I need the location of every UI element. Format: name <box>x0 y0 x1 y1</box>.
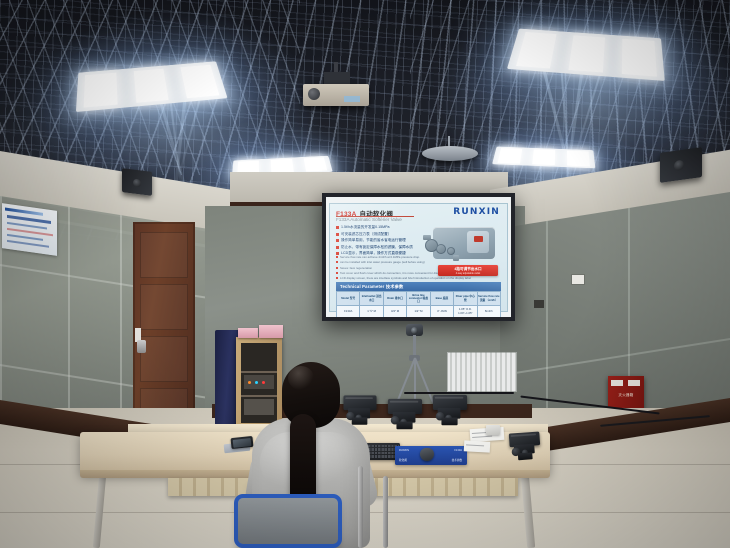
spec-col: Brine line connector 吸盐口 <box>407 292 430 306</box>
speaker-cone-icon <box>674 160 684 171</box>
slide-spec-table: Technical Parameter 技术参数 Model 型号 Inlet/… <box>336 282 501 317</box>
floor-cable <box>404 392 514 394</box>
chair-blue-trim <box>234 494 342 548</box>
spec-col: Service flow rate 流量 （m3/h） <box>477 292 500 306</box>
spec-cell: 1.05" O.D. 1.00"~1.05" <box>454 306 477 317</box>
presentation-slide: F133A自动软化阀 F133A Automatic Softener Valv… <box>329 203 508 312</box>
chair-support-post-1 <box>358 466 363 548</box>
ceiling-projector <box>303 84 369 106</box>
pink-box-2 <box>259 325 283 338</box>
product-illustration-softener-valve <box>423 223 501 265</box>
slide-callout-badge: 4路可调节出水口 4-way adjustable outlet <box>438 265 498 276</box>
radiator <box>447 352 517 392</box>
spec-cell: 1/2" M <box>407 306 430 317</box>
spec-cell: 3/4" M <box>383 306 406 317</box>
bullet-marker-icon <box>336 226 339 229</box>
bullet-text-en: LCD display screen, there are interface … <box>340 276 471 280</box>
smartphone[interactable] <box>230 436 253 449</box>
wall-outlet <box>572 275 584 284</box>
paper-document-2 <box>464 440 491 452</box>
spec-col: Model 型号 <box>337 292 360 306</box>
valve-unit-4[interactable] <box>507 431 543 462</box>
bullet-text-en: Test cover and flush cover which do conn… <box>340 271 452 275</box>
bullet-text-en: Saves: faux regeneration <box>340 266 372 270</box>
notice-poster <box>2 203 57 256</box>
door-handle[interactable] <box>137 340 146 353</box>
brand-logo-runxin: RUNXIN <box>453 207 500 217</box>
bullet-text: 防止水，带有锁定保障水松的滤膜，保障水质 <box>341 245 413 250</box>
ceiling-speaker-disc <box>422 146 478 161</box>
wall-speaker-right <box>660 147 702 183</box>
slide-bullets-cn: 1.5t/h水流量的开发量0.15MPa 可安装滤芯压力表（测试配置） 操作简单… <box>336 225 431 258</box>
bullet-marker-icon <box>336 233 339 236</box>
spec-table-row: F133A 1 ½" M 3/4" M 1/2" M 4" -8UN 1.05"… <box>337 306 501 317</box>
bullet-marker-icon <box>336 246 339 249</box>
spec-col: Riser pipe 中心管 <box>454 292 477 306</box>
speaker-cone-icon <box>133 179 141 188</box>
bullet-marker-icon <box>336 272 338 274</box>
small-widget[interactable] <box>486 425 500 435</box>
fire-cabinet-label-1: 灭火器箱 <box>608 393 644 398</box>
bullet-text: 操作简单易用，节能的省水省电运行管理 <box>341 238 406 243</box>
bullet-text-en: Service flow rate can achieve 4m3/h at 0… <box>340 255 420 259</box>
room-photo-scene: 灭火器箱 火警 119 F133A自动软化阀 F133A Automatic S… <box>0 0 730 548</box>
phone-screen <box>233 438 252 448</box>
spec-table-header: Technical Parameter 技术参数 <box>336 282 501 291</box>
wall-speaker-left <box>122 168 152 196</box>
projection-screen: F133A自动软化阀 F133A Automatic Softener Valv… <box>322 193 515 321</box>
bullet-marker-icon <box>336 239 339 242</box>
spec-table-header-row: Model 型号 Inlet/outlet 进出水口 Drain 排水口 Bri… <box>337 292 501 306</box>
bullet-marker-icon <box>336 277 338 279</box>
valve-unit-2[interactable] <box>386 399 424 431</box>
bullet-text: 可安装滤芯压力表（测试配置） <box>341 232 391 237</box>
projector-lens <box>308 88 320 100</box>
hair-highlight <box>288 366 314 390</box>
spec-cell: 4" -8UN <box>430 306 453 317</box>
projector-label <box>344 96 360 102</box>
spec-cell: 1 ½" M <box>360 306 383 317</box>
camera-lens-icon <box>411 327 418 334</box>
spec-col: Drain 排水口 <box>383 292 406 306</box>
spec-cell: 8m3/h <box>477 306 500 317</box>
projection-surface: F133A自动软化阀 F133A Automatic Softener Valv… <box>326 197 511 317</box>
spec-cell: F133A <box>337 306 360 317</box>
pink-box-1 <box>238 328 258 338</box>
callout-line-2: 4-way adjustable outlet <box>456 272 480 275</box>
chair-support-post-2 <box>383 476 388 548</box>
bullet-text-en: can be installed with inlet water pressu… <box>340 260 425 264</box>
wood-door[interactable] <box>133 222 195 418</box>
spec-col: Inlet/outlet 进出水口 <box>360 292 383 306</box>
bullet-marker-icon <box>336 267 338 269</box>
wall-outlet-dark <box>534 300 544 308</box>
bullet-marker-icon <box>336 256 338 258</box>
bullet-marker-icon <box>336 261 338 263</box>
spec-col: Base 底座 <box>430 292 453 306</box>
slide-subtitle: F133A Automatic Softener Valve <box>336 217 402 222</box>
bullet-text: 1.5t/h水流量的开发量0.15MPa <box>341 225 390 230</box>
valve-unit-3[interactable] <box>431 395 469 427</box>
